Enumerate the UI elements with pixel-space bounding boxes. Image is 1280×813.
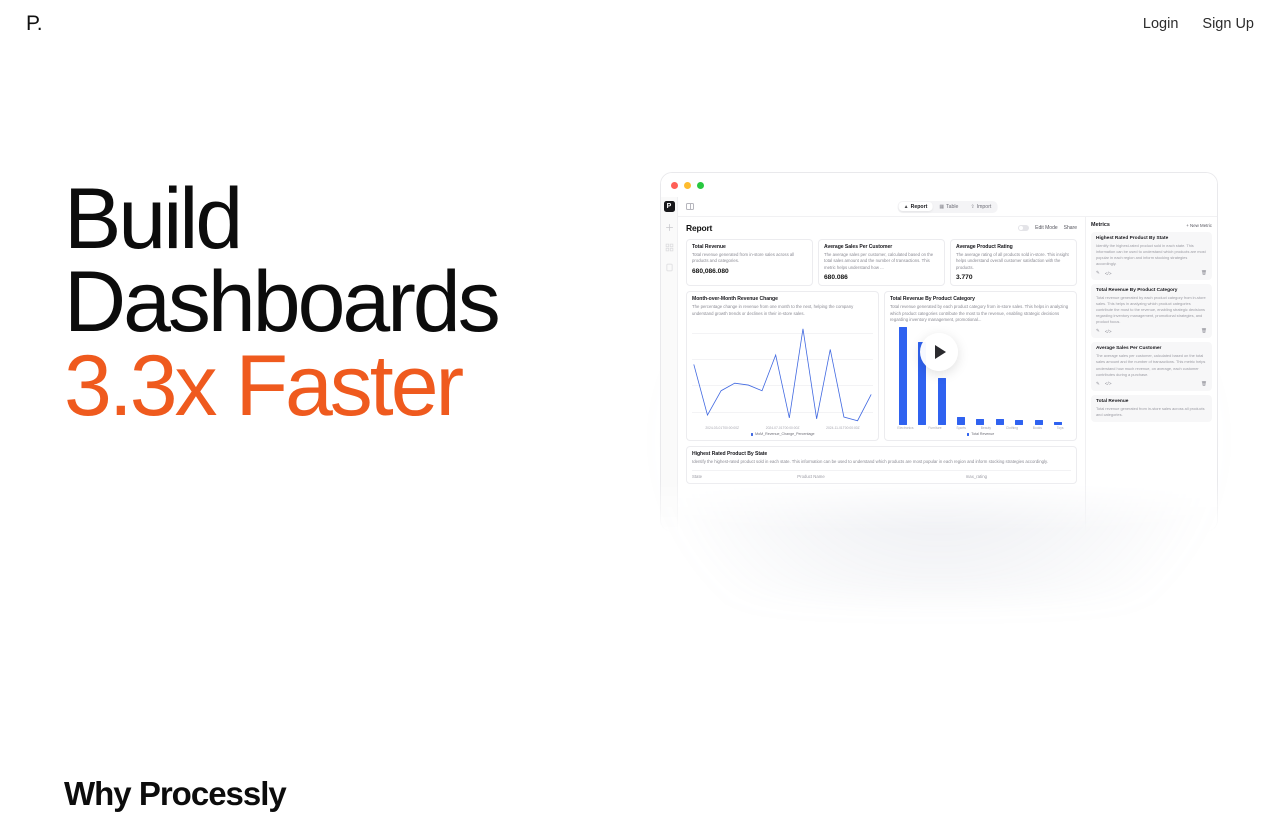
top-navigation: P. Login Sign Up [0, 0, 1280, 48]
kpi-card-total-revenue[interactable]: Total Revenue Total revenue generated fr… [686, 239, 813, 286]
chart-description: The percentage change in revenue from on… [692, 304, 873, 317]
edit-pencil-icon[interactable]: ✎ [1096, 270, 1100, 276]
view-tabs: ▲ Report ▦ Table ⇧ Import [897, 201, 998, 213]
bar-chart-plot [890, 327, 1071, 426]
column-header-state[interactable]: State [692, 474, 797, 479]
app-content: Report Edit Mode Share Total Revenue [678, 217, 1217, 532]
tab-table[interactable]: ▦ Table [934, 202, 963, 211]
metric-description: Total revenue generated from in-store sa… [1096, 406, 1207, 418]
metric-description: The average sales per customer, calculat… [1096, 353, 1207, 377]
kpi-title: Average Sales Per Customer [824, 244, 939, 250]
table-title: Highest Rated Product By State [692, 451, 1071, 457]
new-metric-button[interactable]: + New Metric [1186, 223, 1212, 228]
play-icon[interactable] [920, 333, 958, 371]
trash-icon[interactable]: 🗑 [1201, 381, 1207, 387]
chart-description: Total revenue generated by each product … [890, 304, 1071, 323]
x-tick: Clothing [1006, 426, 1018, 430]
metric-title: Highest Rated Product By State [1096, 236, 1207, 241]
x-tick: Books [1033, 426, 1042, 430]
x-tick: Beauty [981, 426, 991, 430]
line-chart-legend: MoM_Revenue_Change_Percentage [692, 432, 873, 436]
legend-label: MoM_Revenue_Change_Percentage [755, 432, 814, 436]
tab-import[interactable]: ⇧ Import [965, 202, 996, 211]
x-tick: Electronics [897, 426, 913, 430]
chart-icon: ▲ [904, 204, 909, 210]
edit-pencil-icon[interactable]: ✎ [1096, 328, 1100, 334]
bar [1035, 420, 1043, 425]
why-section-heading: Why Processly [64, 775, 286, 813]
metric-actions: ✎ </> 🗑 [1096, 328, 1207, 334]
chart-title: Month-over-Month Revenue Change [692, 296, 873, 302]
headline-line-3-accent: 3.3x Faster [64, 345, 498, 428]
legend-swatch [751, 433, 754, 436]
kpi-title: Total Revenue [692, 244, 807, 250]
table-header-row: State Product Name max_rating [692, 470, 1071, 479]
x-tick: Toys [1057, 426, 1064, 430]
rail-logo[interactable]: P [664, 201, 675, 212]
table-card-highest-rated[interactable]: Highest Rated Product By State Identify … [686, 446, 1077, 483]
legend-label: Total Revenue [971, 432, 994, 436]
document-icon[interactable] [665, 263, 674, 272]
share-button[interactable]: Share [1064, 225, 1077, 231]
bar [976, 419, 984, 425]
report-header-actions: Edit Mode Share [1018, 225, 1077, 231]
login-link[interactable]: Login [1143, 16, 1178, 32]
metric-actions: ✎ </> 🗑 [1096, 381, 1207, 387]
trash-icon[interactable]: 🗑 [1201, 270, 1207, 276]
bar-chart-xaxis: Electronics Furniture Sports Beauty Clot… [890, 426, 1071, 430]
tab-import-label: Import [977, 204, 992, 210]
table-icon: ▦ [939, 204, 944, 210]
table-description: Identify the highest-rated product sold … [692, 459, 1071, 465]
sparkle-icon[interactable] [665, 223, 674, 232]
metric-title: Average Sales Per Customer [1096, 346, 1207, 351]
tab-report-label: Report [911, 204, 928, 210]
column-header-max-rating[interactable]: max_rating [966, 474, 1071, 479]
kpi-card-avg-sales-per-customer[interactable]: Average Sales Per Customer The average s… [818, 239, 945, 286]
headline-line-2: Dashboards [64, 261, 498, 344]
x-tick: 2024-03-01T00:00:00Z [705, 426, 739, 430]
trash-icon[interactable]: 🗑 [1201, 328, 1207, 334]
metric-title: Total Revenue [1096, 399, 1207, 404]
line-chart-xaxis: 2024-03-01T00:00:00Z 2024-07-01T00:00:00… [692, 426, 873, 430]
kpi-cards-row: Total Revenue Total revenue generated fr… [686, 239, 1077, 286]
metrics-sidebar-header: Metrics + New Metric [1091, 222, 1212, 228]
chart-title: Total Revenue By Product Category [890, 296, 1071, 302]
upload-icon: ⇧ [970, 204, 974, 210]
metric-item[interactable]: Highest Rated Product By State Identify … [1091, 232, 1212, 280]
maximize-traffic-light-icon[interactable] [697, 182, 704, 189]
bar [1054, 422, 1062, 425]
bar-chart-legend: Total Revenue [890, 432, 1071, 436]
grid-icon[interactable] [665, 243, 674, 252]
left-rail: P [661, 197, 678, 532]
signup-link[interactable]: Sign Up [1202, 16, 1254, 32]
metric-item[interactable]: Total Revenue By Product Category Total … [1091, 284, 1212, 338]
x-tick: Sports [956, 426, 966, 430]
app-topbar: ▲ Report ▦ Table ⇧ Import [678, 197, 1217, 217]
charts-row: Month-over-Month Revenue Change The perc… [686, 291, 1077, 441]
metric-description: Identify the highest-rated product sold … [1096, 243, 1207, 267]
edit-mode-label: Edit Mode [1035, 225, 1058, 231]
bar [957, 417, 965, 425]
kpi-value: 3.770 [956, 274, 1071, 281]
x-tick: 2024-07-01T00:00:00Z [766, 426, 800, 430]
line-series [692, 320, 873, 425]
line-chart-plot [692, 320, 873, 425]
bar-chart-card[interactable]: Total Revenue By Product Category Total … [884, 291, 1077, 441]
kpi-description: The average rating of all products sold … [956, 252, 1071, 271]
edit-pencil-icon[interactable]: ✎ [1096, 381, 1100, 387]
brand-logo[interactable]: P. [26, 12, 42, 36]
metrics-sidebar: Metrics + New Metric Highest Rated Produ… [1085, 217, 1217, 532]
window-titlebar [661, 173, 1217, 197]
bar [899, 327, 907, 426]
kpi-title: Average Product Rating [956, 244, 1071, 250]
code-icon[interactable]: </> [1105, 381, 1112, 386]
kpi-value: 680,086.080 [692, 268, 807, 275]
metric-title: Total Revenue By Product Category [1096, 288, 1207, 293]
tab-report[interactable]: ▲ Report [899, 202, 933, 211]
metric-item[interactable]: Average Sales Per Customer The average s… [1091, 342, 1212, 390]
minimize-traffic-light-icon[interactable] [684, 182, 691, 189]
toggle-sidebar-icon[interactable] [686, 203, 694, 210]
code-icon[interactable]: </> [1105, 271, 1112, 276]
metric-actions: ✎ </> 🗑 [1096, 270, 1207, 276]
tab-table-label: Table [946, 204, 958, 210]
kpi-value: 680.086 [824, 274, 939, 281]
kpi-description: Total revenue generated from in-store sa… [692, 252, 807, 265]
legend-swatch [967, 433, 970, 436]
metric-item[interactable]: Total Revenue Total revenue generated fr… [1091, 395, 1212, 422]
bar [1015, 420, 1023, 425]
headline-line-1: Build [64, 178, 498, 261]
report-title: Report [686, 223, 712, 233]
bar [938, 378, 946, 425]
report-header: Report Edit Mode Share [686, 223, 1077, 233]
report-canvas: Report Edit Mode Share Total Revenue [678, 217, 1085, 532]
code-icon[interactable]: </> [1105, 329, 1112, 334]
line-chart-card[interactable]: Month-over-Month Revenue Change The perc… [686, 291, 879, 441]
hero-section: Build Dashboards 3.3x Faster P [0, 0, 1280, 760]
kpi-description: The average sales per customer, calculat… [824, 252, 939, 271]
bar [996, 419, 1004, 425]
x-tick: Furniture [928, 426, 941, 430]
x-tick: 2024-11-01T00:00:00Z [826, 426, 859, 430]
play-triangle [935, 345, 946, 359]
close-traffic-light-icon[interactable] [671, 182, 678, 189]
bar-series [890, 327, 1071, 426]
product-demo-mockup[interactable]: P ▲ Report ▦ [660, 172, 1218, 532]
column-header-product-name[interactable]: Product Name [797, 474, 965, 479]
nav-links: Login Sign Up [1143, 16, 1254, 32]
page-title: Build Dashboards 3.3x Faster [64, 178, 498, 428]
edit-mode-toggle[interactable] [1018, 225, 1029, 231]
metric-description: Total revenue generated by each product … [1096, 295, 1207, 325]
kpi-card-avg-product-rating[interactable]: Average Product Rating The average ratin… [950, 239, 1077, 286]
metrics-title: Metrics [1091, 222, 1110, 228]
